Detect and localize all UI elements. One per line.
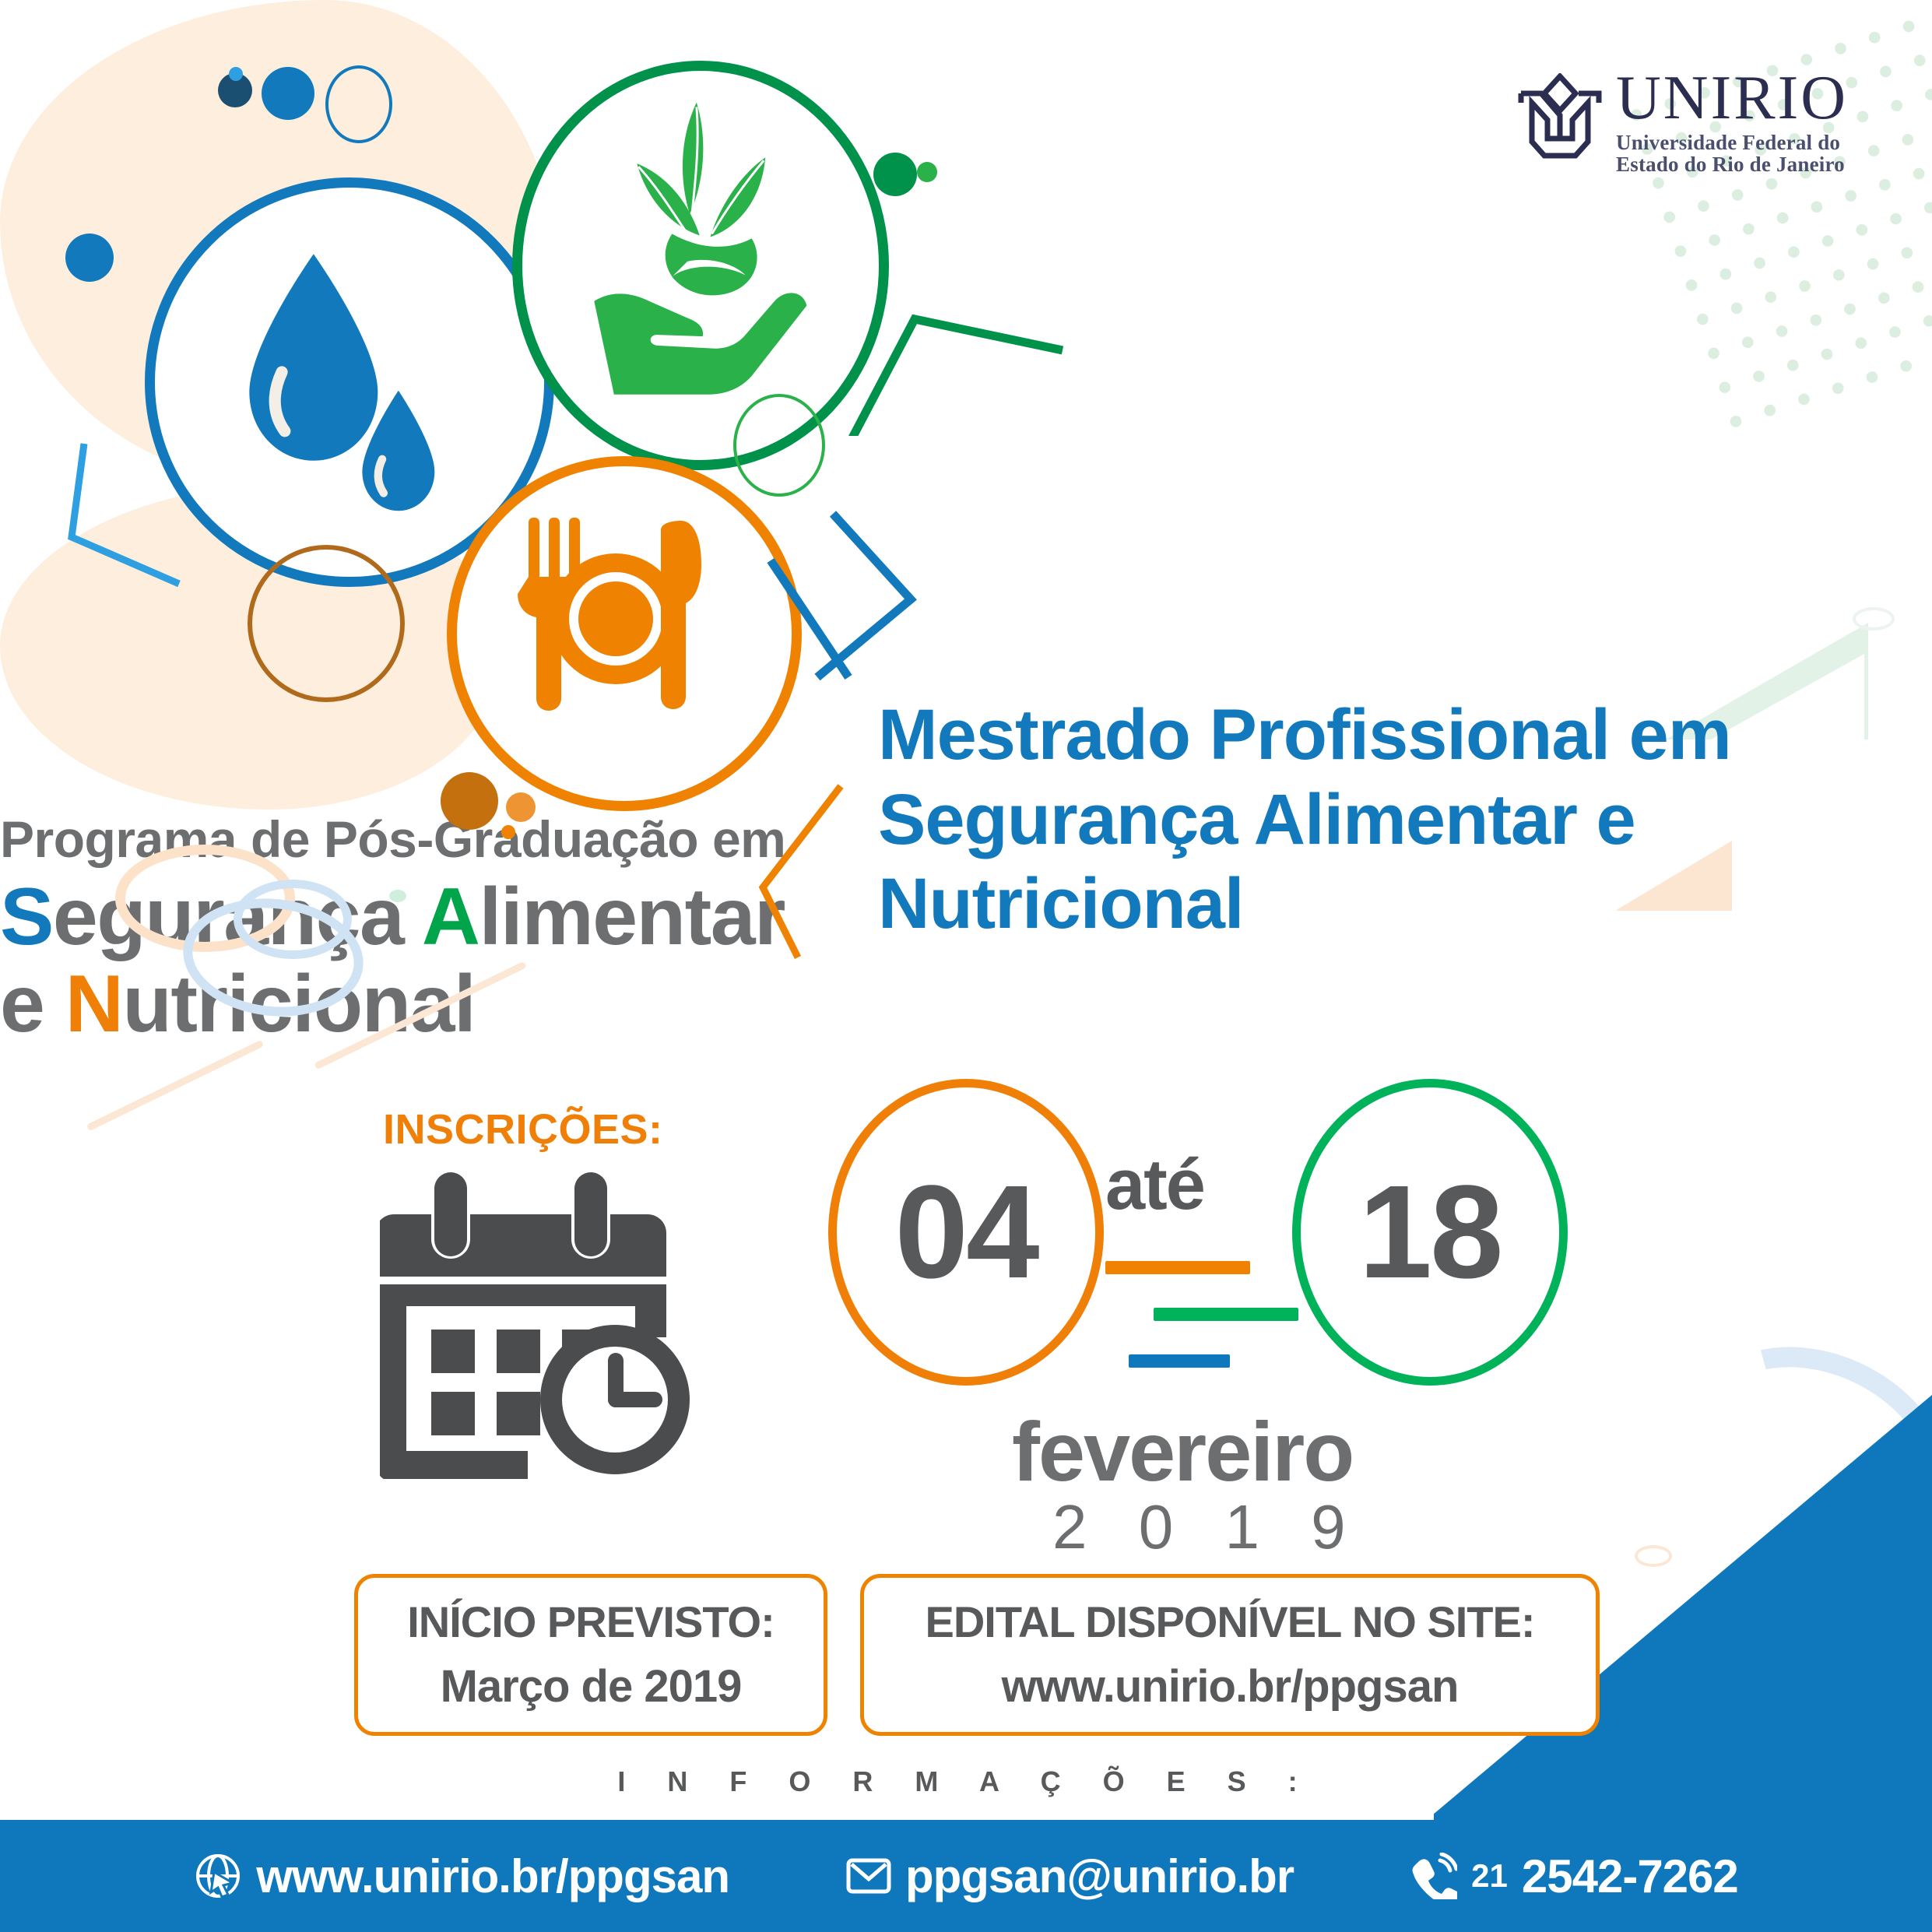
footer-phone[interactable]: 21 2542-7262 bbox=[1410, 1849, 1738, 1903]
dot-decoration-brown bbox=[441, 772, 498, 830]
connector-line-blue-left bbox=[62, 436, 296, 638]
edital-title: EDITAL DISPONÍVEL NO SITE: bbox=[926, 1600, 1535, 1644]
title-conjunction-e: e bbox=[0, 959, 65, 1049]
dot-decoration-blue-left bbox=[65, 234, 114, 282]
plate-cutlery-icon bbox=[457, 466, 771, 781]
subtitle-line-3: Nutricional bbox=[878, 862, 1797, 947]
subtitle-line-1: Mestrado Profissional em bbox=[878, 693, 1797, 778]
dot-decoration-blue bbox=[262, 67, 314, 120]
meal-icon-circle bbox=[447, 456, 802, 811]
ring-decoration-tiny-1 bbox=[1853, 607, 1895, 631]
connector-line-orange bbox=[654, 778, 887, 965]
dot-decoration-green bbox=[873, 153, 917, 196]
subtitle-line-2: Segurança Alimentar e bbox=[878, 778, 1797, 862]
footer-phone-number: 2542-7262 bbox=[1522, 1849, 1738, 1903]
edital-url[interactable]: www.unirio.br/ppgsan bbox=[1002, 1664, 1459, 1709]
poster-canvas: UNIRIO Universidade Federal do Estado do… bbox=[0, 0, 1932, 1932]
dot-decoration-orange-mid bbox=[506, 792, 536, 822]
ring-decoration-green-outline bbox=[733, 394, 825, 497]
dash-orange bbox=[1105, 1261, 1250, 1274]
logo-subtitle-line-1: Universidade Federal do bbox=[1616, 132, 1848, 153]
ring-decoration-tiny-2 bbox=[1635, 1545, 1672, 1567]
envelope-icon bbox=[846, 1857, 891, 1895]
dot-decoration-orange-small bbox=[501, 825, 515, 839]
dot-decoration-green-small bbox=[917, 162, 937, 182]
globe-cursor-icon bbox=[194, 1852, 242, 1900]
plant-in-hand-icon bbox=[522, 71, 859, 440]
calendar-clock-icon bbox=[380, 1168, 715, 1479]
inicio-previsto-value: Março de 2019 bbox=[441, 1664, 742, 1709]
informacoes-label: I N F O R M A Ç Õ E S : bbox=[0, 1765, 1932, 1798]
footer-website[interactable]: www.unirio.br/ppgsan bbox=[194, 1849, 729, 1903]
year-label: 2 0 1 9 bbox=[1052, 1491, 1363, 1563]
pale-line-decoration-1 bbox=[86, 1040, 265, 1132]
title-initial-s: S bbox=[0, 872, 53, 962]
connector-line-blue-right bbox=[786, 498, 989, 701]
end-date-circle: 18 bbox=[1292, 1079, 1568, 1386]
inicio-previsto-box: INÍCIO PREVISTO: Março de 2019 bbox=[354, 1574, 827, 1736]
connector-line-green bbox=[825, 304, 1090, 436]
logo-wordmark: UNIRIO bbox=[1616, 67, 1848, 129]
title-initial-n: N bbox=[65, 959, 123, 1049]
footer-email[interactable]: ppgsan@unirio.br bbox=[846, 1849, 1294, 1903]
month-label: fevereiro bbox=[1012, 1403, 1353, 1500]
inscricoes-label: INSCRIÇÕES: bbox=[383, 1105, 663, 1154]
footer-email-text: ppgsan@unirio.br bbox=[905, 1849, 1294, 1903]
footer-phone-area: 21 bbox=[1471, 1857, 1508, 1895]
program-subtitle: Mestrado Profissional em Segurança Alime… bbox=[878, 693, 1797, 947]
edital-box: EDITAL DISPONÍVEL NO SITE: www.unirio.br… bbox=[860, 1574, 1600, 1736]
phone-ring-icon bbox=[1410, 1853, 1457, 1899]
logo-subtitle-line-2: Estado do Rio de Janeiro bbox=[1616, 154, 1848, 175]
dash-blue bbox=[1129, 1354, 1230, 1368]
unirio-logo: UNIRIO Universidade Federal do Estado do… bbox=[1518, 67, 1848, 175]
footer-website-text: www.unirio.br/ppgsan bbox=[256, 1849, 729, 1903]
start-date-circle: 04 bbox=[828, 1079, 1104, 1386]
dash-green bbox=[1154, 1308, 1298, 1321]
title-initial-a: A bbox=[422, 872, 479, 962]
ring-decoration-blue-outline bbox=[325, 65, 392, 143]
inicio-previsto-title: INÍCIO PREVISTO: bbox=[407, 1600, 774, 1644]
date-connector-label: até bbox=[1105, 1144, 1204, 1226]
dot-decoration-green-pale bbox=[389, 890, 406, 902]
unirio-shield-icon bbox=[1518, 73, 1602, 170]
contact-footer: www.unirio.br/ppgsan ppgsan@unirio.br 21 bbox=[0, 1820, 1932, 1932]
dot-decoration-lightblue bbox=[229, 67, 243, 81]
